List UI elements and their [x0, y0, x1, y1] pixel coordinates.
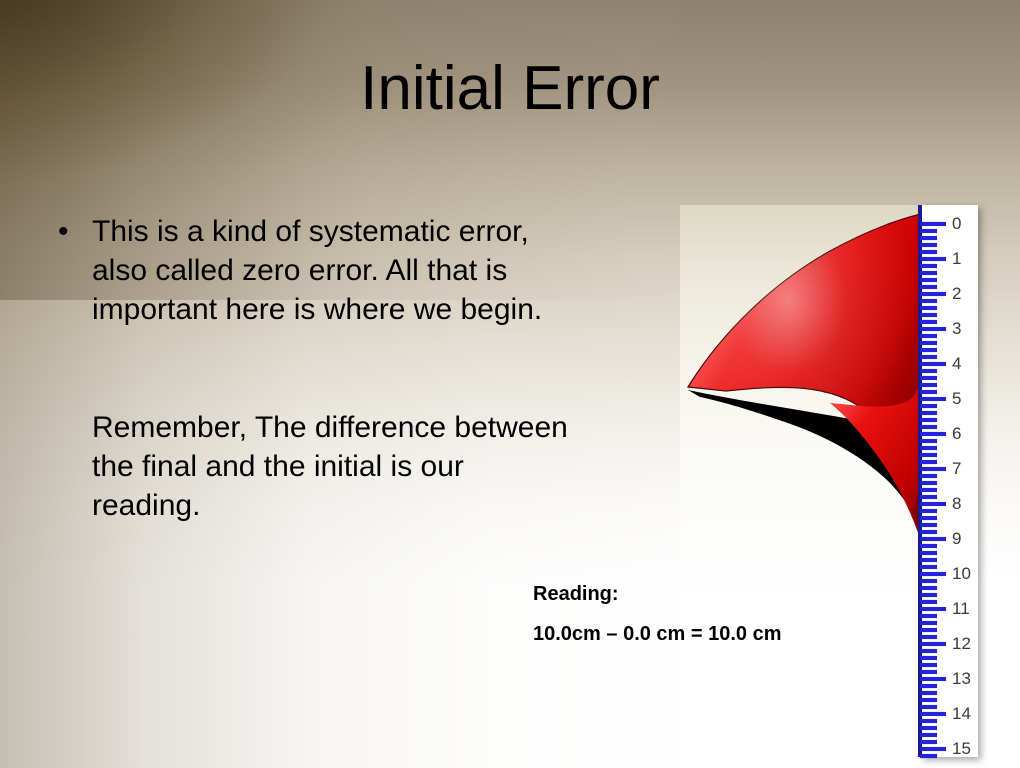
ruler-tick-minor: [920, 453, 937, 457]
ruler-label: 13: [952, 670, 971, 687]
ruler-tick-minor: [920, 278, 937, 282]
slide-canvas: Initial Error • This is a kind of system…: [0, 0, 1020, 768]
ruler-label: 2: [952, 285, 961, 302]
reading-annotation: Reading: 10.0cm – 0.0 cm = 10.0 cm: [533, 583, 782, 645]
ruler-tick-major: [920, 222, 946, 226]
ruler-tick-major: [920, 747, 946, 751]
body-content: • This is a kind of systematic error, al…: [52, 212, 572, 525]
ruler-tick-minor: [920, 558, 937, 562]
ruler-label: 6: [952, 425, 961, 442]
ruler-tick-minor: [920, 299, 937, 303]
ruler-tick-minor: [920, 474, 937, 478]
ruler-tick-minor: [920, 250, 937, 254]
ruler-label: 12: [952, 635, 971, 652]
ruler-label: 5: [952, 390, 961, 407]
ruler-tick-major: [920, 537, 946, 541]
ruler-tick-major: [920, 467, 946, 471]
ruler-label: 8: [952, 495, 961, 512]
ruler-tick-minor: [920, 439, 937, 443]
ruler-label: 15: [952, 740, 971, 757]
reading-equation: 10.0cm – 0.0 cm = 10.0 cm: [533, 623, 782, 645]
ruler-tick-minor: [920, 334, 937, 338]
ruler-tick-major: [920, 292, 946, 296]
ruler-tick-minor: [920, 460, 937, 464]
ruler-tick-minor: [920, 684, 937, 688]
ruler-tick-minor: [920, 740, 937, 744]
ruler-tick-minor: [920, 488, 937, 492]
ruler-label: 10: [952, 565, 971, 582]
ruler-tick-minor: [920, 544, 937, 548]
ruler-tick-minor: [920, 495, 937, 499]
ruler-tick-major: [920, 257, 946, 261]
ruler-tick-minor: [920, 229, 937, 233]
ruler-tick-major: [920, 712, 946, 716]
ruler-tick-major: [920, 677, 946, 681]
ruler-label: 14: [952, 705, 971, 722]
ruler-tick-minor: [920, 390, 937, 394]
ruler-tick-minor: [920, 446, 937, 450]
ruler-label: 7: [952, 460, 961, 477]
ruler-tick-minor: [920, 551, 937, 555]
ruler-tick-minor: [920, 530, 937, 534]
ruler-tick-minor: [920, 635, 937, 639]
bullet-item: • This is a kind of systematic error, al…: [52, 212, 572, 329]
ruler-tick-minor: [920, 726, 937, 730]
ruler-label: 11: [952, 600, 970, 617]
ruler-tick-minor: [920, 621, 937, 625]
ruler-tick-minor: [920, 719, 937, 723]
ruler-tick-major: [920, 642, 946, 646]
ruler-tick-minor: [920, 376, 937, 380]
ruler-tick-minor: [920, 425, 937, 429]
paragraph-systematic-error: This is a kind of systematic error, also…: [92, 212, 572, 329]
ruler-tick-minor: [920, 656, 937, 660]
ruler-label: 0: [952, 215, 961, 232]
ruler-label: 1: [952, 250, 961, 267]
ruler: 0123456789101112131415: [918, 205, 978, 757]
ruler-tick-minor: [920, 705, 937, 709]
paragraph-remember: Remember, The difference between the fin…: [92, 408, 572, 525]
ruler-tick-minor: [920, 355, 937, 359]
ruler-tick-minor: [920, 264, 937, 268]
ruler-label: 3: [952, 320, 961, 337]
ruler-tick-minor: [920, 565, 937, 569]
ruler-tick-major: [920, 432, 946, 436]
ruler-tick-minor: [920, 313, 937, 317]
ruler-tick-minor: [920, 754, 937, 758]
ruler-tick-minor: [920, 516, 937, 520]
bullet-marker-icon: •: [52, 212, 92, 252]
ruler-tick-minor: [920, 649, 937, 653]
ruler-tick-minor: [920, 236, 937, 240]
ruler-tick-minor: [920, 341, 937, 345]
ruler-tick-minor: [920, 698, 937, 702]
ruler-tick-minor: [920, 586, 937, 590]
ruler-tick-minor: [920, 404, 937, 408]
ruler-tick-minor: [920, 593, 937, 597]
reading-label: Reading:: [533, 583, 782, 605]
ruler-tick-major: [920, 607, 946, 611]
ruler-tick-minor: [920, 670, 937, 674]
ruler-tick-minor: [920, 523, 937, 527]
ruler-tick-minor: [920, 733, 937, 737]
ruler-tick-minor: [920, 579, 937, 583]
ruler-tick-minor: [920, 348, 937, 352]
ruler-tick-major: [920, 362, 946, 366]
ruler-tick-minor: [920, 369, 937, 373]
ruler-tick-major: [920, 502, 946, 506]
ruler-label: 4: [952, 355, 961, 372]
ruler-tick-minor: [920, 320, 937, 324]
ruler-tick-minor: [920, 509, 937, 513]
ruler-tick-minor: [920, 691, 937, 695]
ruler-tick-minor: [920, 418, 937, 422]
ruler-tick-major: [920, 327, 946, 331]
ruler-tick-major: [920, 572, 946, 576]
ruler-tick-minor: [920, 628, 937, 632]
ruler-tick-minor: [920, 243, 937, 247]
page-title: Initial Error: [0, 56, 1020, 121]
ruler-tick-minor: [920, 411, 937, 415]
ruler-tick-minor: [920, 306, 937, 310]
ruler-tick-major: [920, 397, 946, 401]
ruler-tick-minor: [920, 271, 937, 275]
ruler-tick-minor: [920, 383, 937, 387]
ruler-tick-minor: [920, 600, 937, 604]
ruler-label: 9: [952, 530, 961, 547]
ruler-tick-minor: [920, 614, 937, 618]
ruler-tick-minor: [920, 481, 937, 485]
ruler-tick-minor: [920, 285, 937, 289]
ruler-tick-minor: [920, 663, 937, 667]
